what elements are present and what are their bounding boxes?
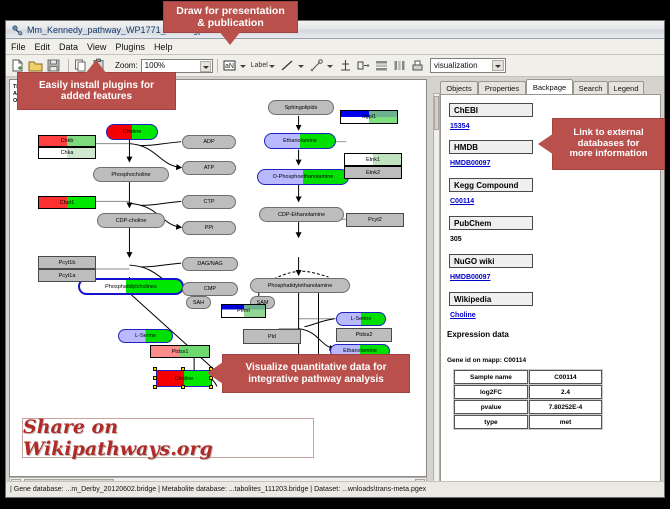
node-label: Sphingolipids bbox=[285, 105, 318, 111]
node-label: CDP-Ethanolamine bbox=[278, 212, 325, 218]
callout-plugins-text: Easily install plugins for added feature… bbox=[39, 80, 154, 103]
gene-label: Pcyt1a bbox=[59, 273, 76, 279]
callout-plugins-arrow bbox=[85, 60, 107, 74]
screenshot-root: Mm_Kennedy_pathway_WP1771_45176.gpml Fil… bbox=[0, 0, 670, 509]
tab-search[interactable]: Search bbox=[573, 81, 608, 94]
gene-pcyt2[interactable]: Pcyt2 bbox=[346, 213, 404, 227]
node-label: Ethanolamine bbox=[283, 138, 317, 144]
gene-pemt[interactable]: Pemt bbox=[221, 304, 266, 318]
callout-link-arrow bbox=[538, 133, 554, 155]
selection-handle[interactable] bbox=[153, 367, 157, 371]
selection-handle[interactable] bbox=[153, 376, 157, 380]
db-header-pubchem: PubChem bbox=[449, 216, 533, 230]
node-ppi[interactable]: PPi bbox=[182, 221, 236, 235]
visualization-value: visualization bbox=[434, 61, 478, 70]
cell-value: C00114 bbox=[529, 370, 602, 384]
gene-chkb[interactable]: Chkb bbox=[38, 135, 96, 147]
panel-tabstrip[interactable]: Objects Properties Backpage Search Legen… bbox=[440, 79, 661, 94]
db-name: NuGO wiki bbox=[454, 257, 494, 266]
node-sah[interactable]: SAH bbox=[186, 296, 211, 309]
gene-pcyt1b[interactable]: Pcyt1b bbox=[38, 256, 96, 269]
node-label: DAG/NAG bbox=[197, 261, 222, 267]
menubar[interactable]: File Edit Data View Plugins Help bbox=[6, 39, 664, 55]
open-folder-icon[interactable] bbox=[28, 58, 43, 73]
statusbar-text: | Gene database: ...m_Derby_20120602.bri… bbox=[10, 486, 426, 493]
node-label: CTP bbox=[204, 199, 215, 205]
label-dropdown-icon[interactable] bbox=[269, 59, 276, 73]
callout-visualize-arrow bbox=[207, 362, 223, 384]
selection-handle[interactable] bbox=[181, 385, 185, 389]
node-adp[interactable]: ADP bbox=[182, 135, 236, 149]
tab-backpage[interactable]: Backpage bbox=[526, 79, 573, 94]
node-atp[interactable]: ATP bbox=[182, 161, 236, 175]
visualization-combo[interactable]: visualization bbox=[430, 58, 506, 73]
pathvisio-app-icon bbox=[11, 24, 23, 36]
toolbar-separator-2 bbox=[217, 59, 218, 73]
tab-properties[interactable]: Properties bbox=[478, 81, 526, 94]
toolbar-separator-1 bbox=[68, 59, 69, 73]
gene-label: Chka bbox=[61, 150, 74, 156]
expression-data-heading: Expression data bbox=[447, 330, 509, 339]
selection-handle[interactable] bbox=[181, 367, 185, 371]
callout-draw: Draw for presentation & publication bbox=[164, 2, 297, 32]
table-row: pvalue 7.80252E-4 bbox=[454, 400, 602, 414]
window-titlebar: Mm_Kennedy_pathway_WP1771_45176.gpml bbox=[6, 21, 664, 39]
db-name: HMDB bbox=[454, 143, 478, 152]
menu-data[interactable]: Data bbox=[59, 42, 78, 52]
node-dagnag[interactable]: DAG/NAG bbox=[182, 257, 238, 271]
node-label: ATP bbox=[204, 165, 214, 171]
menu-view[interactable]: View bbox=[87, 42, 106, 52]
tab-objects[interactable]: Objects bbox=[440, 81, 478, 94]
anchor-icon[interactable] bbox=[309, 58, 324, 73]
tab-label: Legend bbox=[613, 84, 638, 93]
callout-plugins: Easily install plugins for added feature… bbox=[18, 73, 175, 109]
node-label: Choline bbox=[175, 376, 194, 382]
node-l-serine-right[interactable]: L-Serine bbox=[336, 312, 386, 326]
gene-sgpl1[interactable]: Sgpl1 bbox=[340, 110, 398, 124]
gene-label: Ptdss2 bbox=[356, 332, 373, 338]
table-row: log2FC 2.4 bbox=[454, 385, 602, 399]
db-header-nugo: NuGO wiki bbox=[449, 254, 533, 268]
line-icon[interactable] bbox=[280, 58, 295, 73]
db-link-wikipedia[interactable]: Choline bbox=[450, 312, 476, 319]
node-choline-top[interactable]: Choline bbox=[106, 124, 158, 140]
gene-label: Pcyt2 bbox=[368, 217, 382, 223]
menu-edit[interactable]: Edit bbox=[35, 42, 51, 52]
gene-etnk2[interactable]: Etnk2 bbox=[344, 166, 402, 179]
gene-label: Chpt1 bbox=[60, 200, 75, 206]
svg-text:aN: aN bbox=[225, 63, 234, 70]
label-tool-label: Label bbox=[251, 62, 268, 69]
gene-ptdss2[interactable]: Ptdss2 bbox=[336, 328, 392, 342]
cell-value: met bbox=[529, 415, 602, 429]
node-label: Phosphocholine bbox=[111, 172, 150, 178]
selection-handle[interactable] bbox=[153, 385, 157, 389]
db-header-hmdb: HMDB bbox=[449, 140, 533, 154]
gene-pcyt1a[interactable]: Pcyt1a bbox=[38, 269, 96, 282]
db-name: Kegg Compound bbox=[454, 181, 518, 190]
datanode-icon[interactable]: aN bbox=[222, 58, 237, 73]
chevron-down-icon[interactable] bbox=[200, 61, 211, 72]
cell-key: log2FC bbox=[454, 385, 528, 399]
chevron-down-icon[interactable] bbox=[492, 60, 504, 71]
anchor-dropdown-icon[interactable] bbox=[327, 59, 334, 73]
group-icon[interactable] bbox=[356, 58, 371, 73]
menu-plugins[interactable]: Plugins bbox=[115, 42, 145, 52]
gene-pld[interactable]: Pld bbox=[243, 329, 301, 344]
callout-visualize-text: Visualize quantitative data for integrat… bbox=[246, 362, 387, 385]
callout-draw-arrow bbox=[219, 31, 241, 45]
callout-link: Link to external databases for more info… bbox=[553, 119, 664, 169]
node-label: L-Serine bbox=[351, 316, 372, 322]
new-file-icon[interactable] bbox=[10, 58, 25, 73]
node-ethanolamine[interactable]: Ethanolamine bbox=[264, 133, 336, 149]
node-label: CMP bbox=[204, 286, 216, 292]
db-link-chebi[interactable]: 15354 bbox=[450, 123, 469, 130]
node-label: L-Serine bbox=[135, 333, 156, 339]
gene-label: Etnk1 bbox=[366, 157, 380, 163]
tab-label: Properties bbox=[485, 84, 519, 93]
gene-label: Pcyt1b bbox=[59, 260, 76, 266]
stack-icon[interactable] bbox=[374, 58, 389, 73]
db-name: Wikipedia bbox=[454, 295, 491, 304]
cell-key: pvalue bbox=[454, 400, 528, 414]
tab-label: Objects bbox=[446, 84, 471, 93]
gene-chpt1[interactable]: Chpt1 bbox=[38, 196, 96, 209]
gene-label: Sgpl1 bbox=[362, 114, 376, 120]
callout-link-text: Link to external databases for more info… bbox=[569, 128, 647, 161]
tab-legend[interactable]: Legend bbox=[608, 81, 644, 94]
db-header-chebi: ChEBI bbox=[449, 103, 533, 117]
db-link-hmdb[interactable]: HMDB00097 bbox=[450, 160, 490, 167]
gene-etnk1[interactable]: Etnk1 bbox=[344, 153, 402, 166]
menu-file[interactable]: File bbox=[11, 42, 26, 52]
node-label: CDP-choline bbox=[116, 218, 147, 224]
db-name: PubChem bbox=[454, 219, 491, 228]
node-label: ADP bbox=[203, 139, 214, 145]
cell-key: Sample name bbox=[454, 370, 528, 384]
db-name: ChEBI bbox=[454, 106, 478, 115]
db-link-kegg[interactable]: C00114 bbox=[450, 198, 474, 205]
cell-value: 2.4 bbox=[529, 385, 602, 399]
gene-label: Etnk2 bbox=[366, 170, 380, 176]
save-icon[interactable] bbox=[46, 58, 61, 73]
node-l-serine-left[interactable]: L-Serine bbox=[118, 329, 173, 343]
zoom-value: 100% bbox=[145, 61, 165, 70]
order-icon[interactable] bbox=[410, 58, 425, 73]
node-label: Phosphatidylethanolamine bbox=[268, 283, 333, 289]
zoom-label: Zoom: bbox=[115, 61, 138, 70]
gene-label: Ptdss1 bbox=[172, 349, 189, 355]
scroll-thumb[interactable] bbox=[434, 96, 439, 130]
node-cmp[interactable]: CMP bbox=[182, 282, 238, 296]
statusbar: | Gene database: ...m_Derby_20120602.bri… bbox=[6, 481, 664, 497]
node-ctp[interactable]: CTP bbox=[182, 195, 236, 209]
db-value-pubchem: 305 bbox=[450, 236, 462, 243]
callout-share: Share on Wikipathways.org bbox=[22, 418, 314, 458]
db-header-wikipedia: Wikipedia bbox=[449, 292, 533, 306]
align-icon[interactable] bbox=[338, 58, 353, 73]
distribute-icon[interactable] bbox=[392, 58, 407, 73]
expression-table: Sample name C00114 log2FC 2.4 pvalue 7.8… bbox=[453, 369, 603, 430]
datanode-dropdown-icon[interactable] bbox=[240, 59, 247, 73]
node-label: O-Phosphoethanolamine bbox=[273, 174, 334, 180]
node-phosphocholine[interactable]: Phosphocholine bbox=[93, 167, 169, 182]
cell-value: 7.80252E-4 bbox=[529, 400, 602, 414]
callout-visualize: Visualize quantitative data for integrat… bbox=[223, 355, 409, 392]
gene-label: Pemt bbox=[237, 308, 250, 314]
panel-vscrollbar[interactable] bbox=[433, 93, 440, 490]
node-label: Ethanolamine bbox=[343, 348, 377, 354]
table-row: type met bbox=[454, 415, 602, 429]
node-sphingolipids[interactable]: Sphingolipids bbox=[268, 100, 334, 115]
gene-chka[interactable]: Chka bbox=[38, 147, 96, 159]
zoom-combo[interactable]: 100% bbox=[141, 59, 213, 73]
node-label: Choline bbox=[123, 129, 142, 135]
db-header-kegg: Kegg Compound bbox=[449, 178, 533, 192]
tab-label: Backpage bbox=[533, 83, 566, 92]
gene-ptdss1[interactable]: Ptdss1 bbox=[150, 345, 210, 358]
gene-id-on-mapp: Gene id on mapp: C00114 bbox=[447, 357, 526, 364]
db-link-nugo[interactable]: HMDB00097 bbox=[450, 274, 490, 281]
callout-share-text: Share on Wikipathways.org bbox=[23, 416, 313, 460]
menu-help[interactable]: Help bbox=[154, 42, 173, 52]
node-o-phosphoethanolamine[interactable]: O-Phosphoethanolamine bbox=[257, 169, 349, 185]
node-label: SAH bbox=[193, 300, 204, 306]
callout-draw-text: Draw for presentation & publication bbox=[176, 5, 285, 29]
node-label: PPi bbox=[205, 225, 214, 231]
gene-label: Chkb bbox=[61, 138, 74, 144]
tab-label: Search bbox=[579, 84, 603, 93]
node-cdp-choline[interactable]: CDP-choline bbox=[97, 213, 165, 228]
gene-label: Pld bbox=[268, 334, 276, 340]
node-label: Phosphatidylcholines bbox=[105, 284, 157, 290]
cell-key: type bbox=[454, 415, 528, 429]
node-cdp-ethanolamine[interactable]: CDP-Ethanolamine bbox=[259, 207, 344, 222]
node-phosphatidylethanolamine[interactable]: Phosphatidylethanolamine bbox=[250, 278, 350, 293]
table-row: Sample name C00114 bbox=[454, 370, 602, 384]
selection-handle[interactable] bbox=[209, 385, 213, 389]
line-dropdown-icon[interactable] bbox=[298, 59, 305, 73]
